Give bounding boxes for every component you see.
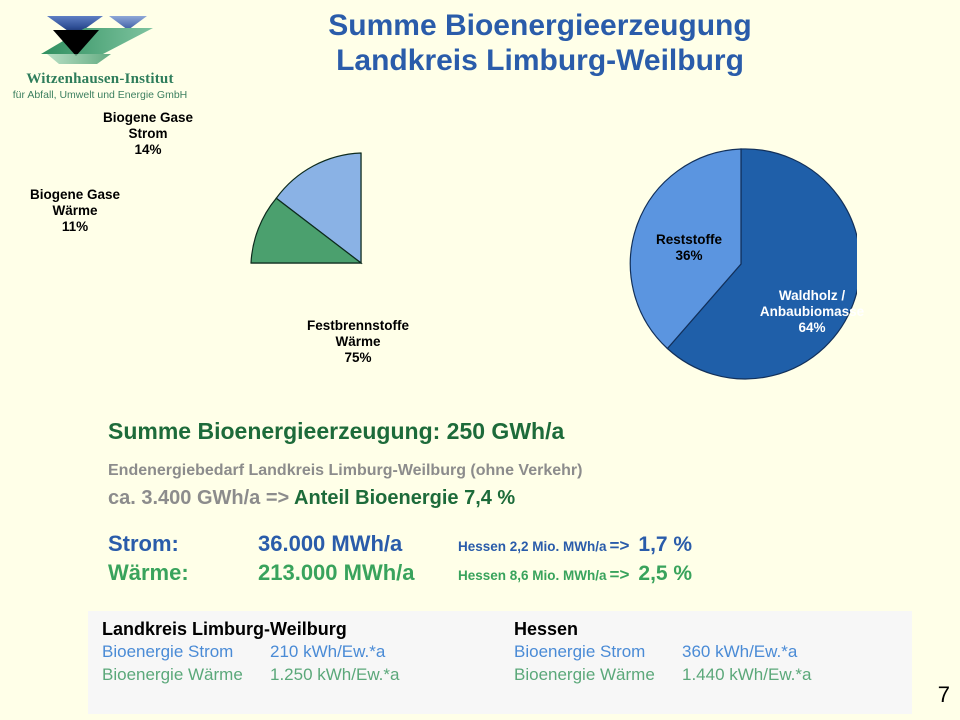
pie-label-value: 64% <box>760 320 864 336</box>
pie-label-value: 36% <box>656 248 722 264</box>
metric-value: 36.000 MWh/a <box>258 531 458 557</box>
page-number: 7 <box>938 682 950 708</box>
metric-row-waerme: Wärme:213.000 MWh/aHessen 8,6 Mio. MWh/a… <box>108 560 692 590</box>
table-row: Bioenergie Strom360 kWh/Ew.*a <box>514 641 912 664</box>
pie-label-biogene-gase-waerme: Biogene Gase Wärme 11% <box>30 187 120 235</box>
table-column-header: Landkreis Limburg-Weilburg <box>102 617 500 641</box>
pie-chart-biomasse-herkunft <box>625 148 857 380</box>
table-cell-value: 1.440 kWh/Ew.*a <box>682 664 811 687</box>
metric-row-strom: Strom:36.000 MWh/aHessen 2,2 Mio. MWh/a=… <box>108 531 692 561</box>
table-cell-value: 360 kWh/Ew.*a <box>682 641 797 664</box>
company-logo: Witzenhausen-Institut für Abfall, Umwelt… <box>10 6 190 101</box>
slide-title: Summe Bioenergieerzeugung Landkreis Limb… <box>190 8 890 78</box>
summary-share-line: ca. 3.400 GWh/a => Anteil Bioenergie 7,4… <box>108 487 515 510</box>
pie-label-line: Festbrennstoffe <box>307 318 409 334</box>
metric-percent: 1,7 % <box>629 533 692 557</box>
pie-label-line: Reststoffe <box>656 232 722 248</box>
table-column-landkreis: Landkreis Limburg-Weilburg Bioenergie St… <box>88 617 500 687</box>
table-row: Bioenergie Wärme1.440 kWh/Ew.*a <box>514 664 912 687</box>
comparison-table: Landkreis Limburg-Weilburg Bioenergie St… <box>88 611 912 714</box>
pie-label-reststoffe: Reststoffe 36% <box>656 232 722 264</box>
slide-title-line2: Landkreis Limburg-Weilburg <box>190 43 890 78</box>
slide: Witzenhausen-Institut für Abfall, Umwelt… <box>0 0 960 720</box>
table-cell-name: Bioenergie Wärme <box>102 664 270 687</box>
slide-title-line1: Summe Bioenergieerzeugung <box>190 8 890 43</box>
metric-reference: Hessen 2,2 Mio. MWh/a <box>458 539 607 554</box>
table-cell-name: Bioenergie Strom <box>514 641 682 664</box>
table-cell-value: 1.250 kWh/Ew.*a <box>270 664 399 687</box>
pie-label-value: 14% <box>103 142 193 158</box>
pie-label-line: Strom <box>103 126 193 142</box>
pie-label-festbrennstoffe-waerme: Festbrennstoffe Wärme 75% <box>307 318 409 366</box>
pie-label-value: 11% <box>30 219 120 235</box>
table-cell-value: 210 kWh/Ew.*a <box>270 641 385 664</box>
metric-label: Wärme: <box>108 560 258 586</box>
pie-label-value: 75% <box>307 350 409 366</box>
pie-label-line: Biogene Gase <box>30 187 120 203</box>
pie-label-line: Wärme <box>307 334 409 350</box>
pie-label-line: Anbaubiomasse <box>760 304 864 320</box>
metric-reference: Hessen 8,6 Mio. MWh/a <box>458 568 607 583</box>
summary-share-value: Anteil Bioenergie 7,4 % <box>294 487 515 509</box>
logo-company-name: Witzenhausen-Institut <box>10 71 190 88</box>
table-row: Bioenergie Strom210 kWh/Ew.*a <box>102 641 500 664</box>
table-cell-name: Bioenergie Wärme <box>514 664 682 687</box>
witzenhausen-z-mark-icon <box>25 6 175 68</box>
pie-label-line: Wärme <box>30 203 120 219</box>
metric-value: 213.000 MWh/a <box>258 560 458 586</box>
pie-label-biogene-gase-strom: Biogene Gase Strom 14% <box>103 110 193 158</box>
metric-arrow-icon: => <box>607 565 630 585</box>
pie-label-waldholz-anbaubiomasse: Waldholz / Anbaubiomasse 64% <box>760 288 864 336</box>
table-row: Bioenergie Wärme1.250 kWh/Ew.*a <box>102 664 500 687</box>
table-column-hessen: Hessen Bioenergie Strom360 kWh/Ew.*a Bio… <box>500 617 912 687</box>
logo-company-subtitle: für Abfall, Umwelt und Energie GmbH <box>10 89 190 101</box>
pie-label-line: Biogene Gase <box>103 110 193 126</box>
pie-right-svg <box>625 148 857 380</box>
metric-percent: 2,5 % <box>629 562 692 586</box>
metric-label: Strom: <box>108 531 258 557</box>
summary-subline: Endenergiebedarf Landkreis Limburg-Weilb… <box>108 462 582 480</box>
metric-arrow-icon: => <box>607 536 630 556</box>
table-column-header: Hessen <box>514 617 912 641</box>
summary-headline: Summe Bioenergieerzeugung: 250 GWh/a <box>108 418 564 445</box>
pie-label-line: Waldholz / <box>760 288 864 304</box>
summary-share-demand: ca. 3.400 GWh/a => <box>108 487 289 509</box>
table-cell-name: Bioenergie Strom <box>102 641 270 664</box>
